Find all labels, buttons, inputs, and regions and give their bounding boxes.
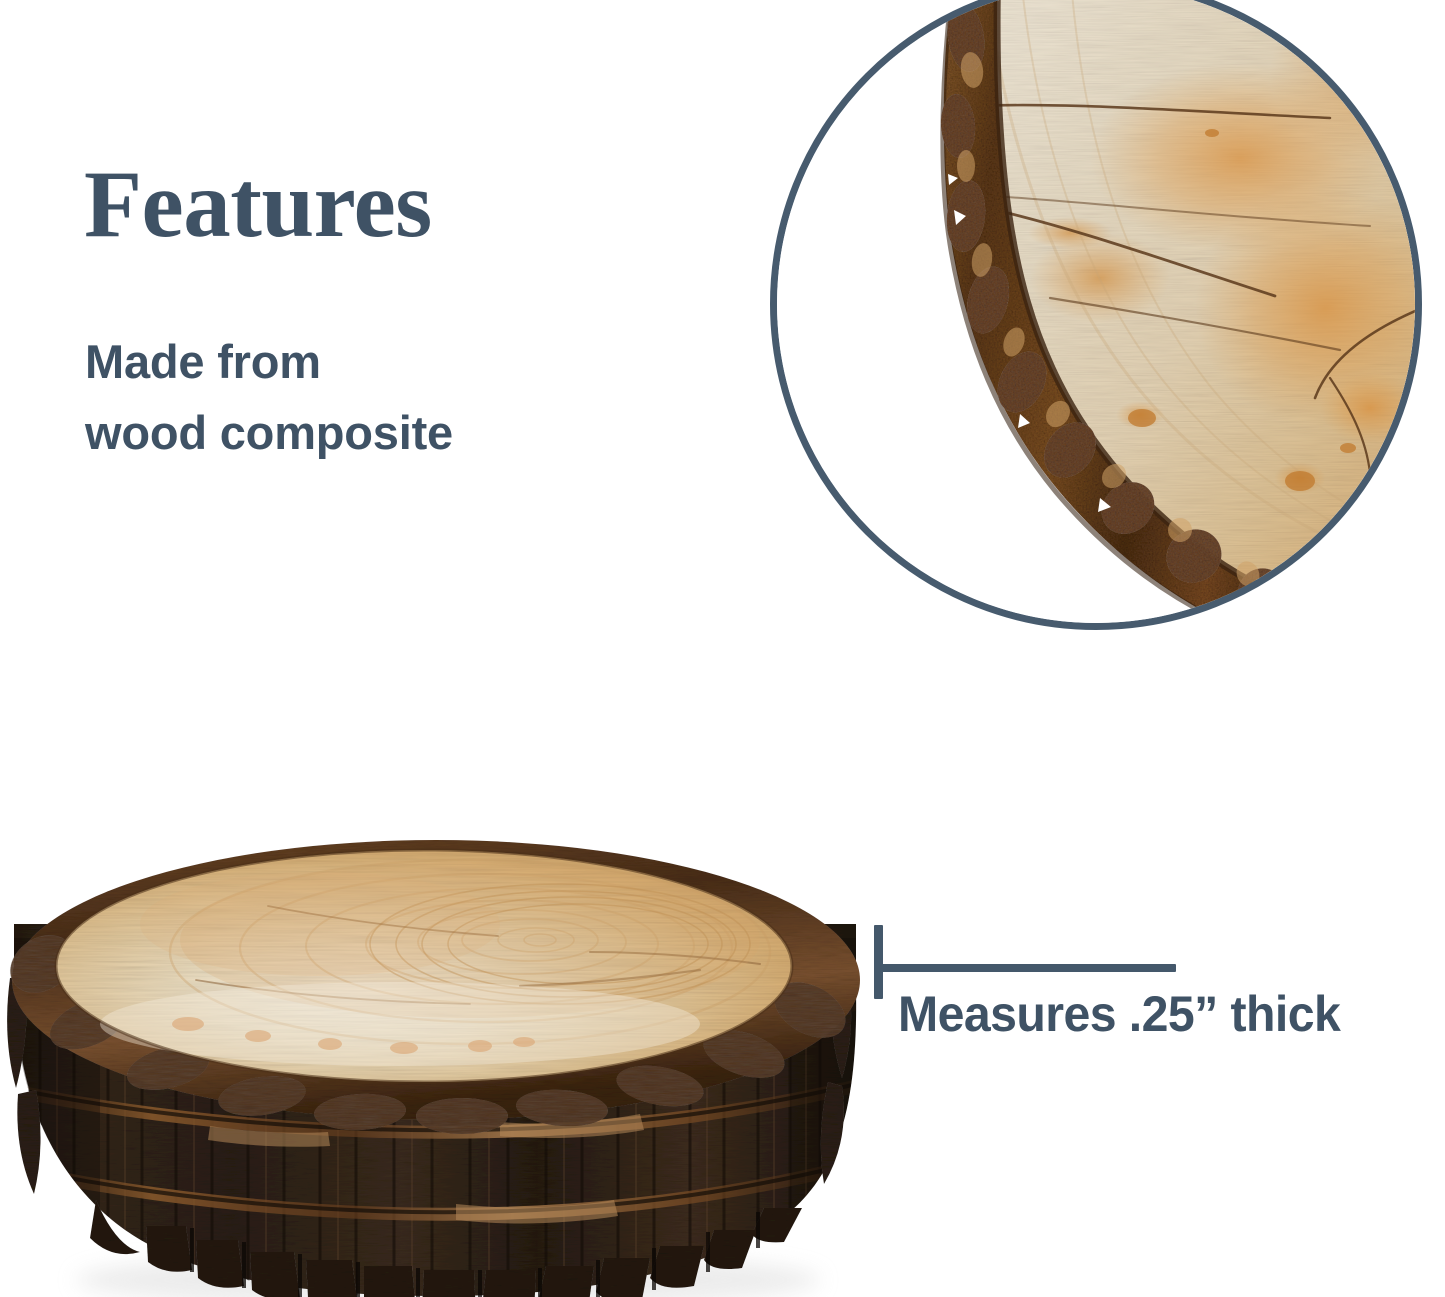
wood-edge-closeup-circle: [770, 0, 1422, 630]
thickness-label: Measures .25” thick: [898, 988, 1340, 1041]
wood-slice-stack-illustration: [0, 828, 880, 1297]
wood-slice-coaster-stack: [0, 828, 880, 1297]
top-wood-face: [56, 850, 792, 1082]
page-title: Features: [84, 156, 432, 253]
feature-description: Made from wood composite: [85, 326, 453, 469]
measurement-rule-icon: [880, 964, 1176, 972]
thickness-callout: Measures .25” thick: [874, 925, 1434, 1065]
product-feature-infographic: Features Made from wood composite: [0, 0, 1445, 1297]
wood-edge-closeup-illustration: [770, 0, 1422, 630]
